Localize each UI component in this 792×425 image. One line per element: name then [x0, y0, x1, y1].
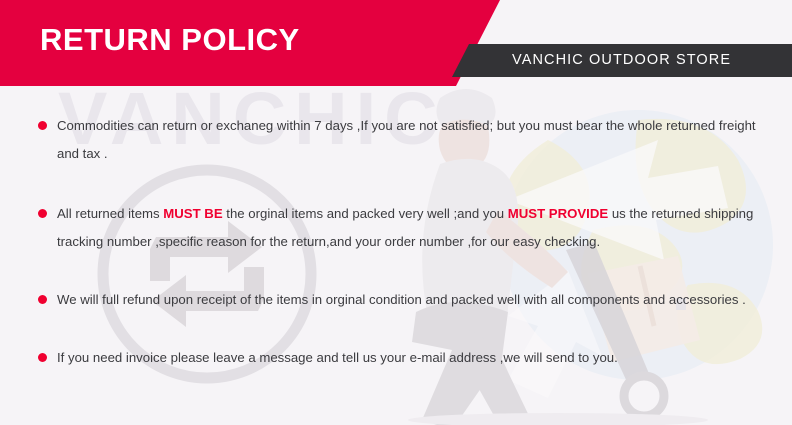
- policy-text: All returned items MUST BE the orginal i…: [57, 200, 778, 256]
- page-title: RETURN POLICY: [40, 20, 300, 60]
- bullet-dot-icon: [38, 295, 47, 304]
- banner-header: RETURN POLICY VANCHIC OUTDOOR STORE: [0, 0, 792, 86]
- policy-item: We will full refund upon receipt of the …: [0, 286, 792, 314]
- bullet-dot-icon: [38, 353, 47, 362]
- policy-list: Commodities can return or exchaneg withi…: [0, 86, 792, 372]
- policy-item: All returned items MUST BE the orginal i…: [0, 200, 792, 256]
- policy-text: Commodities can return or exchaneg withi…: [57, 112, 778, 168]
- store-name: VANCHIC OUTDOOR STORE: [512, 50, 731, 71]
- policy-text: We will full refund upon receipt of the …: [57, 286, 778, 314]
- bullet-dot-icon: [38, 209, 47, 218]
- policy-item: Commodities can return or exchaneg withi…: [0, 112, 792, 168]
- return-policy-banner: VANCHIC: [0, 0, 792, 425]
- policy-text: If you need invoice please leave a messa…: [57, 344, 778, 372]
- bullet-dot-icon: [38, 121, 47, 130]
- policy-item: If you need invoice please leave a messa…: [0, 344, 792, 372]
